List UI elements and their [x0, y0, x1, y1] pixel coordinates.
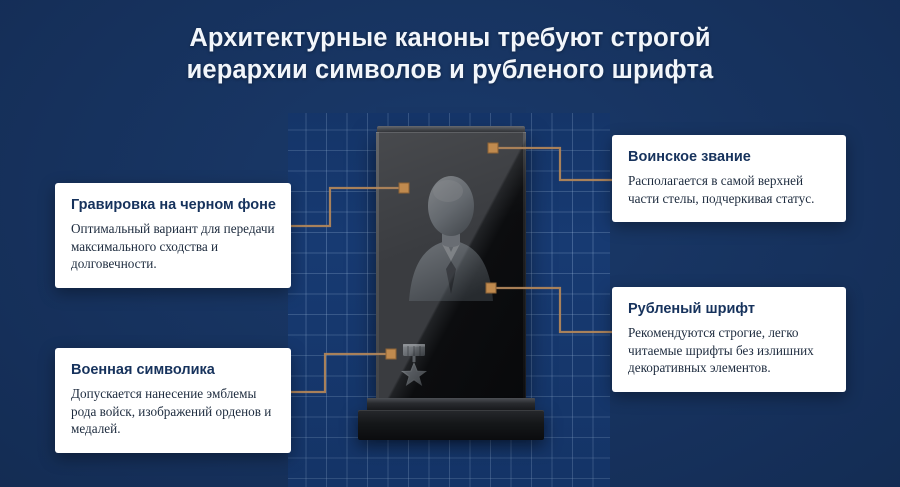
callout-body-rank: Располагается в самой верхней части стел…: [628, 172, 830, 207]
infographic-stage: Архитектурные каноны требуют строгой иер…: [0, 0, 900, 487]
callout-card-engraving[interactable]: Гравировка на черном фоне Оптимальный ва…: [55, 183, 291, 288]
stele-left-edge: [376, 132, 379, 402]
callout-card-rank[interactable]: Воинское звание Располагается в самой ве…: [612, 135, 846, 222]
callout-title-rank: Воинское звание: [628, 148, 830, 166]
page-title-line-2: иерархии символов и рубленого шрифта: [0, 54, 900, 86]
page-title: Архитектурные каноны требуют строгой иер…: [0, 22, 900, 86]
page-title-line-1: Архитектурные каноны требуют строгой: [0, 22, 900, 54]
stele-body: [376, 132, 526, 402]
callout-title-symbols: Военная символика: [71, 361, 275, 379]
callout-body-symbols: Допускается нанесение эмблемы рода войск…: [71, 385, 275, 438]
callout-title-font: Рубленый шрифт: [628, 300, 830, 318]
callout-body-engraving: Оптимальный вариант для передачи максима…: [71, 220, 275, 273]
portrait-engraving-icon: [404, 166, 498, 301]
callout-card-font[interactable]: Рубленый шрифт Рекомендуются строгие, ле…: [612, 287, 846, 392]
callout-card-symbols[interactable]: Военная символика Допускается нанесение …: [55, 348, 291, 453]
plinth-base: [358, 410, 544, 440]
granite-memorial-stele: [355, 126, 545, 444]
stele-right-edge: [523, 132, 526, 402]
medal-star-icon: [399, 343, 429, 387]
callout-title-engraving: Гравировка на черном фоне: [71, 196, 275, 214]
callout-body-font: Рекомендуются строгие, легко читаемые шр…: [628, 324, 830, 377]
